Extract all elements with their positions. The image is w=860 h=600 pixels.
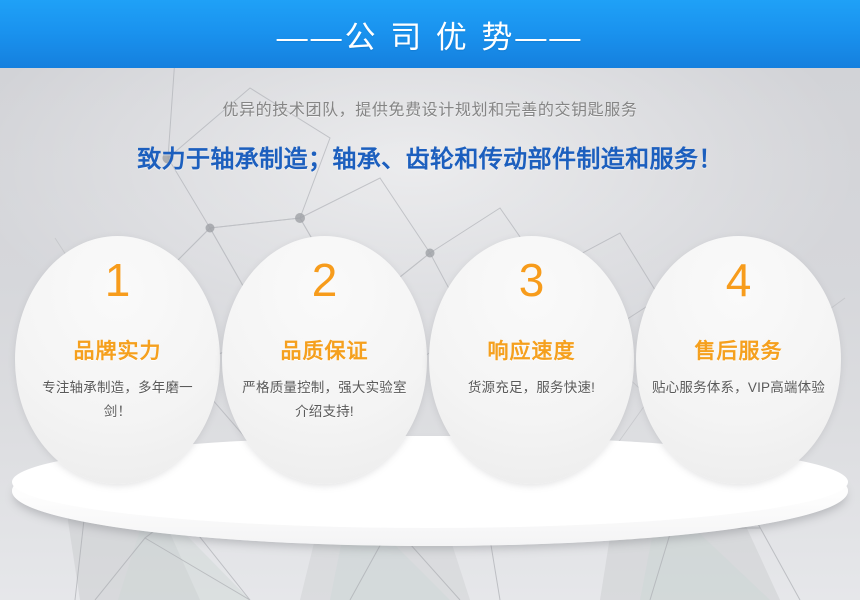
card-title: 售后服务 [636, 339, 841, 365]
card-description: 贴心服务体系，VIP高端体验 [645, 376, 832, 400]
intro-subtitle: 优异的技术团队，提供免费设计规划和完善的交钥匙服务 [0, 100, 860, 122]
card-number: 1 [15, 256, 220, 304]
advantage-card-4[interactable]: 4 售后服务 贴心服务体系，VIP高端体验 [636, 236, 841, 484]
card-title: 响应速度 [429, 339, 634, 365]
card-title: 品质保证 [222, 339, 427, 365]
page-title: ——公 司 优 势—— [0, 0, 860, 68]
advantage-card-1[interactable]: 1 品牌实力 专注轴承制造，多年磨一剑！ [15, 236, 220, 484]
advantage-card-3[interactable]: 3 响应速度 货源充足，服务快速! [429, 236, 634, 484]
card-number: 2 [222, 256, 427, 304]
card-description: 专注轴承制造，多年磨一剑！ [31, 376, 204, 424]
card-number: 3 [429, 256, 634, 304]
card-title: 品牌实力 [15, 339, 220, 365]
advantage-card-2[interactable]: 2 品质保证 严格质量控制，强大实验室介绍支持! [222, 236, 427, 484]
company-advantages-page: ——公 司 优 势—— 优异的技术团队，提供免费设计规划和完善的交钥匙服务 致力… [0, 0, 860, 600]
section-header-banner: ——公 司 优 势—— [0, 0, 860, 68]
card-description: 严格质量控制，强大实验室介绍支持! [238, 376, 411, 424]
intro-headline: 致力于轴承制造；轴承、齿轮和传动部件制造和服务！ [0, 144, 860, 176]
intro-text-block: 优异的技术团队，提供免费设计规划和完善的交钥匙服务 致力于轴承制造；轴承、齿轮和… [0, 68, 860, 176]
card-number: 4 [636, 256, 841, 304]
card-description: 货源充足，服务快速! [445, 376, 618, 400]
